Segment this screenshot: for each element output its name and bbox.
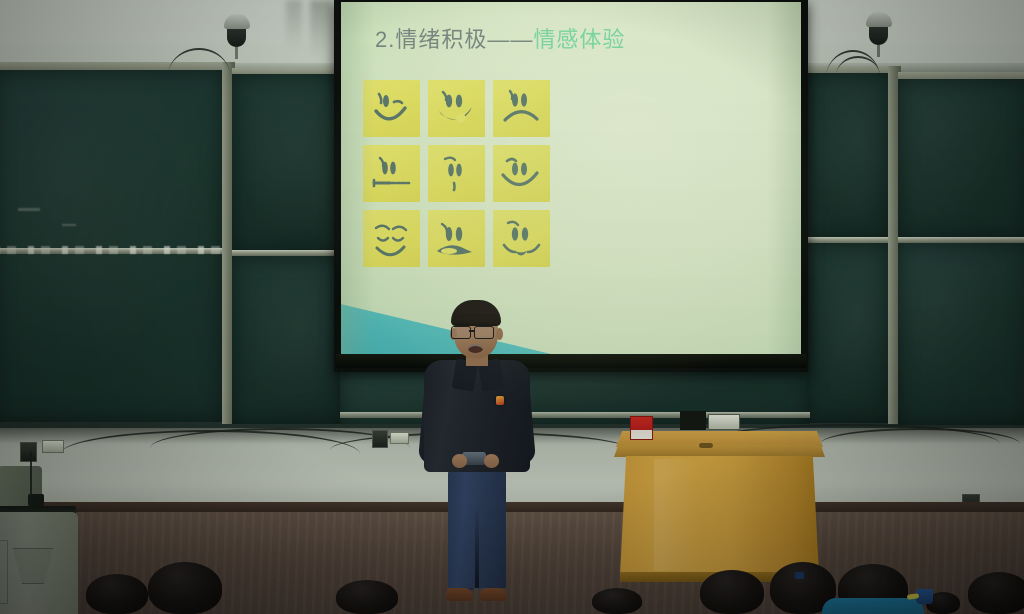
speaker-stem [235,47,238,59]
wall-switch-panel[interactable] [42,440,64,453]
cabinet-side-panel [0,540,8,604]
presenter-hair [451,300,501,326]
presenter-lapel-badge [496,396,504,405]
speaker-dome-icon [224,14,250,29]
chalk-dust-left [0,246,222,254]
blackboard-far-right-lower [898,243,1024,425]
presenter-leg-seam [475,506,479,588]
podium-control-panel[interactable] [708,414,740,430]
presenter-left-shoe [446,588,473,601]
podium-highlight [654,459,700,571]
red-box-on-podium[interactable] [630,416,653,440]
blackboard-right [898,79,1024,239]
podium-body [618,456,821,574]
grinning-smiley-icon [428,80,485,137]
emoji-grid [363,80,550,267]
slide-title-plain: 2.情绪积极—— [375,27,533,52]
presenter [418,300,538,614]
blackboard-left-upper [232,74,342,254]
screen-edge-shade-left [341,2,375,354]
podium-lip [614,445,825,457]
tongue-out-smiley-icon [493,210,550,267]
audience-head-blue-shirt [838,564,908,614]
presenter-right-shoe [480,588,507,601]
audience-head [336,580,398,614]
podium-mic-hole [699,443,713,448]
podium-back-device [680,411,706,430]
presenter-right-hand [484,454,499,468]
wall-switch-panel[interactable] [390,432,409,444]
blackboard-right-upper-inner [806,73,892,241]
speaker-body [869,27,888,45]
presenter-left-hand [452,454,467,468]
shouting-smiley-icon [428,210,485,267]
audience-head [148,562,222,614]
wall-outlet[interactable] [372,430,388,448]
audience-head [592,588,642,614]
blue-cup [916,589,933,604]
speaker-stem [877,45,880,57]
glasses-lens-right [474,326,494,339]
slide-surface: 2.情绪积极——情感体验 [341,2,801,354]
speaker-body [227,29,246,47]
blackboard-right-lower-inner [806,243,892,423]
slide-title: 2.情绪积极——情感体验 [375,22,625,54]
glasses-lens-left [451,326,471,339]
wall-speaker-left [224,14,250,59]
audience-head [968,572,1024,614]
audience-head [86,574,148,614]
screen-bottom-bar [336,354,806,368]
wall-speaker-right [866,12,892,57]
frowning-smiley-icon [493,80,550,137]
happy-smiley-icon [493,145,550,202]
presenter-mouth [468,344,483,353]
surprised-smiley-icon [428,145,485,202]
audience-head [700,570,764,614]
speaker-dome-icon [866,12,892,27]
slide-title-highlight: 情感体验 [533,27,625,52]
chalk-scuff [62,224,76,226]
wall-stain [310,0,332,60]
wooden-podium [614,431,825,583]
projection-screen: 2.情绪积极——情感体验 [334,0,808,372]
lecture-hall-photo: 2.情绪积极——情感体验 [0,0,1024,614]
equipment-cabinet [0,498,78,614]
hair-clip [795,572,804,579]
cabinet-power-cable [30,452,38,508]
wall-stain [286,0,302,52]
blackboard-left-lower [232,256,342,424]
screen-edge-shade-right [767,2,801,354]
chalk-scuff [18,208,40,211]
glasses-icon [451,326,501,337]
